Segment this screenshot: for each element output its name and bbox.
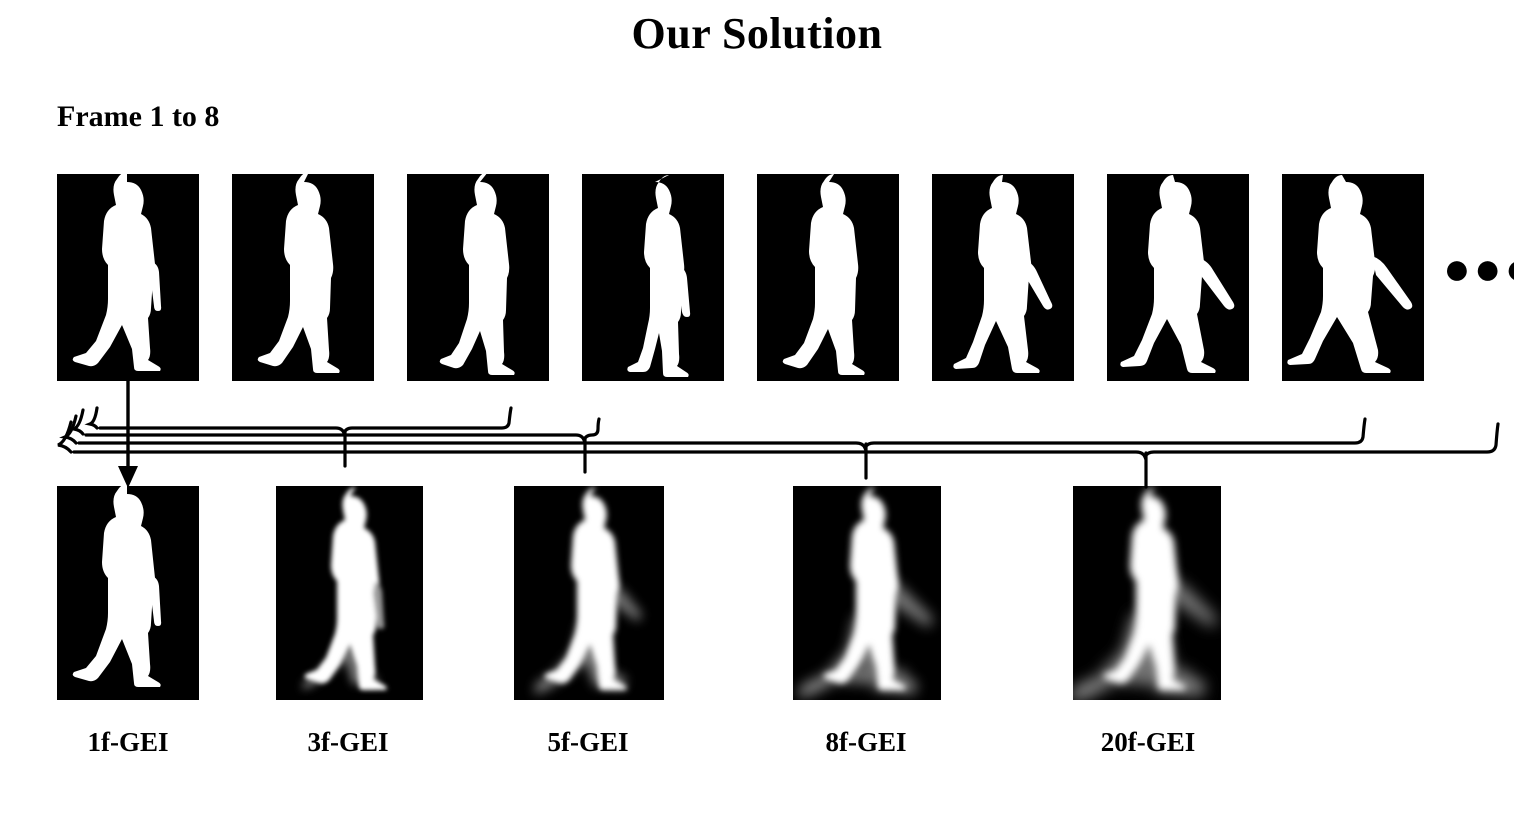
gei-tile xyxy=(1073,486,1221,700)
walking-silhouette-icon xyxy=(232,174,374,381)
brace-5-frames xyxy=(74,410,599,472)
sequence-label: Frame 1 to 8 xyxy=(57,100,219,134)
slide-canvas: Our Solution Frame 1 to 8 ●●● xyxy=(0,0,1514,814)
gei-tile xyxy=(276,486,423,700)
ellipsis-icon: ●●● xyxy=(1443,246,1514,292)
brace-20-frames xyxy=(58,422,1498,487)
gei-label-20f: 20f-GEI xyxy=(1101,727,1196,758)
gei-label-1f: 1f-GEI xyxy=(88,727,169,758)
gei-tile xyxy=(793,486,941,700)
page-title: Our Solution xyxy=(0,8,1514,59)
walking-silhouette-icon xyxy=(1107,174,1249,381)
walking-silhouette-icon xyxy=(1282,174,1424,381)
gei-silhouette-icon xyxy=(276,486,423,700)
frame-tile xyxy=(57,174,199,381)
walking-silhouette-icon xyxy=(932,174,1074,381)
gei-silhouette-icon xyxy=(1073,486,1221,700)
frame-tile xyxy=(1282,174,1424,381)
arrow-head-icon xyxy=(118,466,138,488)
frame-tile xyxy=(232,174,374,381)
gei-silhouette-icon xyxy=(514,486,664,700)
gei-label-5f: 5f-GEI xyxy=(548,727,629,758)
walking-silhouette-icon xyxy=(57,174,199,381)
walking-silhouette-icon xyxy=(582,174,724,381)
walking-silhouette-icon xyxy=(757,174,899,381)
brace-8-frames xyxy=(65,416,1365,478)
gei-silhouette-icon xyxy=(57,486,199,700)
gei-silhouette-icon xyxy=(793,486,941,700)
gei-label-3f: 3f-GEI xyxy=(308,727,389,758)
frame-tile xyxy=(407,174,549,381)
walking-silhouette-icon xyxy=(407,174,549,381)
frame-tile xyxy=(582,174,724,381)
gei-label-8f: 8f-GEI xyxy=(826,727,907,758)
gei-tile xyxy=(514,486,664,700)
gei-tile xyxy=(57,486,199,700)
frame-tile xyxy=(1107,174,1249,381)
brace-3-frames xyxy=(90,408,511,466)
frame-tile xyxy=(757,174,899,381)
frame-tile xyxy=(932,174,1074,381)
connector-layer xyxy=(0,0,1514,814)
